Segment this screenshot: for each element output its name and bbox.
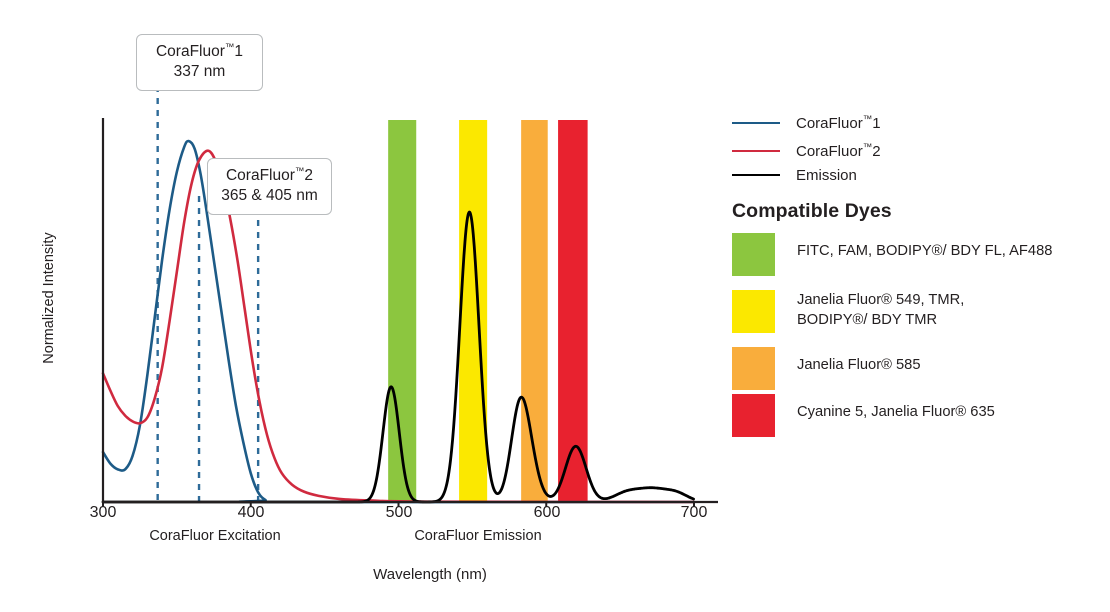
x-tick-500: 500: [379, 504, 419, 522]
dye-item-janelia-585: Janelia Fluor® 585: [732, 347, 921, 390]
region-label-emission: CoraFluor Emission: [378, 528, 578, 544]
callout-corafluor-2: CoraFluor™2 365 & 405 nm: [207, 158, 332, 215]
trademark-icon: ™: [295, 166, 305, 177]
legend-panel: CoraFluor™1 CoraFluor™2 Emission Compati…: [728, 0, 1110, 612]
legend-label-corafluor-2: CoraFluor™2: [796, 142, 881, 160]
legend-line-swatch-corafluor-1: [732, 122, 780, 124]
dye-color-swatch-green: [732, 233, 775, 276]
dye-item-cyanine-5: Cyanine 5, Janelia Fluor® 635: [732, 394, 995, 437]
dye-color-swatch-yellow: [732, 290, 775, 333]
legend-item-corafluor-2: CoraFluor™2: [732, 141, 881, 161]
dye-label-cyanine-5: Cyanine 5, Janelia Fluor® 635: [797, 394, 995, 423]
legend-label-corafluor-1: CoraFluor™1: [796, 114, 881, 132]
dye-color-swatch-red: [732, 394, 775, 437]
yellow-band: [459, 120, 487, 502]
compatible-dyes-heading: Compatible Dyes: [732, 200, 892, 223]
callout-cf2-line1: CoraFluor™2: [220, 166, 319, 186]
legend-line-swatch-corafluor-2: [732, 150, 780, 152]
y-axis-title: Normalized Intensity: [41, 218, 57, 378]
dye-label-fitc: FITC, FAM, BODIPY®/ BDY FL, AF488: [797, 233, 1052, 262]
red-band: [558, 120, 588, 502]
chart-panel: 300 400 500 600 700 CoraFluor Excitation…: [0, 0, 730, 612]
callout-cf1-line1: CoraFluor™1: [149, 42, 250, 62]
dye-color-swatch-orange: [732, 347, 775, 390]
dye-item-fitc: FITC, FAM, BODIPY®/ BDY FL, AF488: [732, 233, 1052, 276]
legend-line-swatch-emission: [732, 174, 780, 176]
trademark-icon: ™: [863, 142, 873, 153]
trademark-icon: ™: [225, 42, 235, 53]
x-tick-600: 600: [527, 504, 567, 522]
trademark-icon: ™: [863, 114, 873, 125]
callout-corafluor-1: CoraFluor™1 337 nm: [136, 34, 263, 91]
x-tick-700: 700: [674, 504, 714, 522]
orange-band: [521, 120, 548, 502]
dye-label-janelia-549: Janelia Fluor® 549, TMR, BODIPY®/ BDY TM…: [797, 290, 964, 330]
legend-item-corafluor-1: CoraFluor™1: [732, 113, 881, 133]
green-band: [388, 120, 416, 502]
region-label-excitation: CoraFluor Excitation: [65, 528, 365, 544]
legend-item-emission: Emission: [732, 165, 857, 185]
spectra-figure: 300 400 500 600 700 CoraFluor Excitation…: [0, 0, 1110, 612]
dye-item-janelia-549: Janelia Fluor® 549, TMR, BODIPY®/ BDY TM…: [732, 290, 964, 333]
legend-label-emission: Emission: [796, 167, 857, 184]
x-axis-title: Wavelength (nm): [280, 566, 580, 583]
dye-label-janelia-585: Janelia Fluor® 585: [797, 347, 921, 376]
x-tick-400: 400: [231, 504, 271, 522]
callout-cf2-line2: 365 & 405 nm: [220, 186, 319, 206]
x-tick-300: 300: [83, 504, 123, 522]
callout-cf1-line2: 337 nm: [149, 62, 250, 82]
